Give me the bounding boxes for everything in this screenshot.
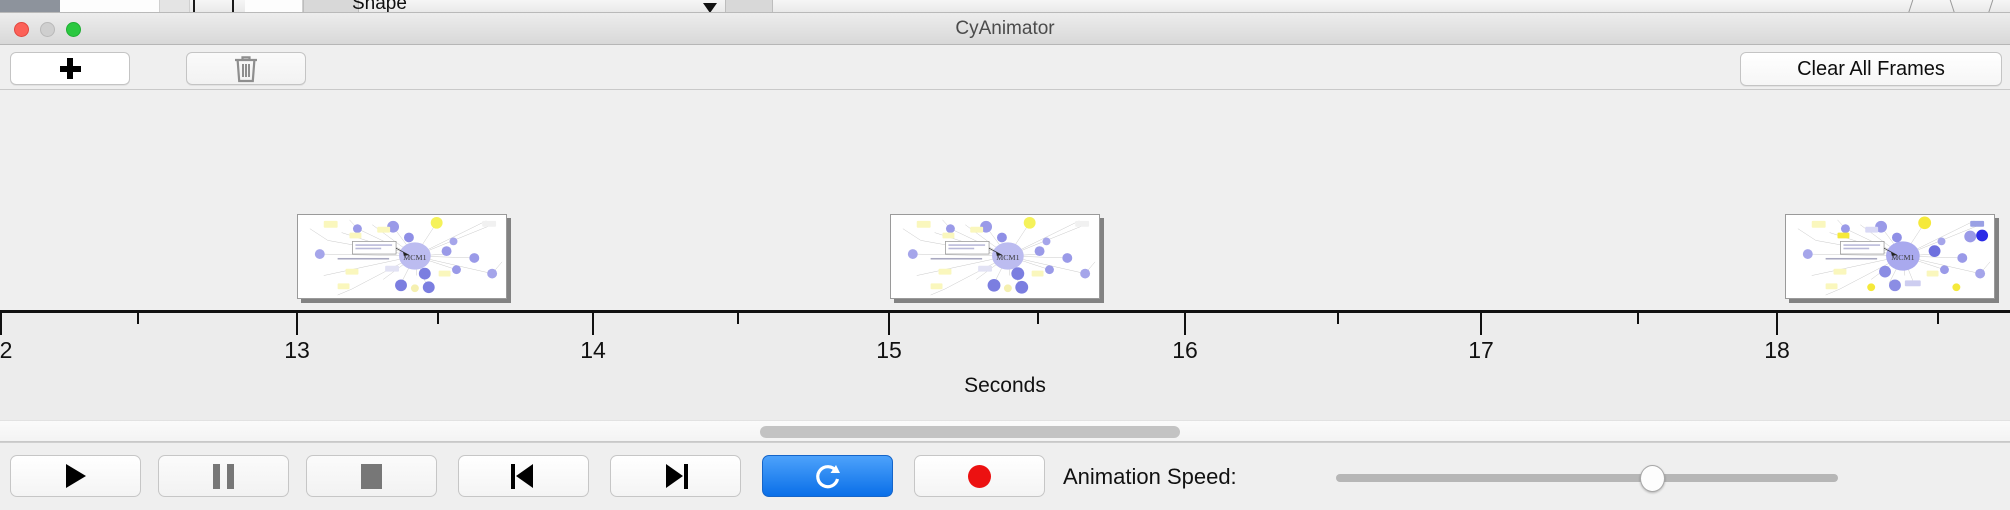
ruler-tick-major	[1776, 313, 1778, 335]
skip-back-icon	[511, 464, 536, 489]
play-button[interactable]	[10, 455, 141, 497]
toolbar: Clear All Frames	[0, 45, 2010, 90]
ruler-tick-minor	[1037, 313, 1039, 324]
svg-text:MCM1: MCM1	[1891, 253, 1914, 262]
timeline-panel[interactable]: MCM1	[0, 90, 2010, 312]
stop-button[interactable]	[306, 455, 437, 497]
ruler-label: 13	[284, 337, 310, 364]
pause-button[interactable]	[158, 455, 289, 497]
loop-icon	[814, 462, 842, 490]
pause-icon	[213, 464, 234, 489]
trash-icon	[233, 54, 259, 84]
timeline-scrollbar[interactable]	[0, 420, 2010, 442]
background-window-segment	[303, 0, 359, 13]
title-bar: CyAnimator	[0, 13, 2010, 45]
background-window-segment	[725, 0, 773, 13]
stop-icon	[361, 464, 382, 489]
background-window-tick	[232, 0, 234, 13]
animation-speed-label: Animation Speed:	[1063, 464, 1237, 490]
loop-button[interactable]	[762, 455, 893, 497]
delete-frame-button[interactable]	[186, 52, 306, 85]
plus-icon	[60, 58, 81, 79]
background-window-segment	[60, 0, 160, 13]
clear-all-frames-button[interactable]: Clear All Frames	[1740, 52, 2002, 86]
network-graph-preview: MCM1	[298, 215, 506, 298]
cyanimator-window: Shape CyAnimator Clear All Frames	[0, 0, 2010, 510]
slider-thumb[interactable]	[1640, 465, 1665, 492]
frame-thumbnail[interactable]: MCM1	[890, 214, 1100, 299]
background-window-divider	[1907, 0, 1914, 13]
axis-label-seconds: Seconds	[0, 374, 2010, 398]
ruler-tick-major	[592, 313, 594, 335]
network-graph-preview: MCM1	[891, 215, 1099, 298]
background-window-divider	[1987, 0, 1994, 13]
ruler-tick-major	[1184, 313, 1186, 335]
ruler-tick-major	[0, 313, 2, 335]
background-window-tick	[193, 0, 195, 13]
network-graph-preview: MCM1	[1786, 215, 1994, 298]
previous-frame-button[interactable]	[458, 455, 589, 497]
scrollbar-thumb[interactable]	[760, 426, 1180, 438]
play-icon	[66, 464, 86, 488]
ruler-tick-minor	[737, 313, 739, 324]
ruler-label: 15	[876, 337, 902, 364]
ruler-tick-major	[1480, 313, 1482, 335]
ruler-tick-minor	[137, 313, 139, 324]
ruler-label: 16	[1172, 337, 1198, 364]
ruler-tick-minor	[437, 313, 439, 324]
window-title: CyAnimator	[0, 13, 2010, 45]
timeline-ruler[interactable]: 2 13 14 15 16 17 18 Seconds	[0, 310, 2010, 410]
background-window-segment	[160, 0, 190, 13]
ruler-tick-minor	[1637, 313, 1639, 324]
next-frame-button[interactable]	[610, 455, 741, 497]
ruler-tick-major	[296, 313, 298, 335]
background-window-divider	[1949, 0, 1956, 13]
svg-text:MCM1: MCM1	[996, 253, 1019, 262]
ruler-tick-major	[888, 313, 890, 335]
frame-thumbnail[interactable]: MCM1	[297, 214, 507, 299]
background-window-segment	[245, 0, 303, 13]
animation-speed-slider[interactable]	[1336, 474, 1838, 482]
playback-controls: Animation Speed:	[0, 442, 2010, 510]
background-window-strip: Shape	[0, 0, 2010, 13]
ruler-label: 17	[1468, 337, 1494, 364]
record-icon	[968, 465, 991, 488]
ruler-label: 14	[580, 337, 606, 364]
add-frame-button[interactable]	[10, 52, 130, 85]
frame-thumbnail[interactable]: MCM1	[1785, 214, 1995, 299]
background-window-arrow-icon	[703, 3, 717, 13]
ruler-tick-minor	[1937, 313, 1939, 324]
record-button[interactable]	[914, 455, 1045, 497]
ruler-tick-minor	[1337, 313, 1339, 324]
svg-text:MCM1: MCM1	[403, 253, 426, 262]
ruler-label: 2	[0, 337, 12, 364]
skip-forward-icon	[663, 464, 688, 489]
ruler-baseline	[0, 310, 2010, 313]
background-window-sidebar	[0, 0, 60, 13]
ruler-label: 18	[1764, 337, 1790, 364]
background-window-label: Shape	[352, 0, 407, 13]
